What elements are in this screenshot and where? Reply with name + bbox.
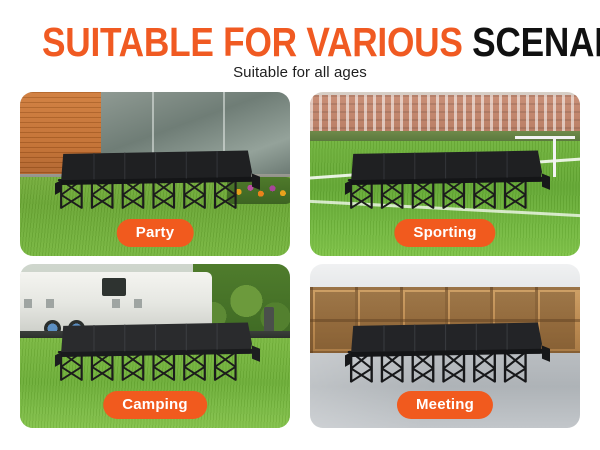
scenario-panel-party[interactable]: Party [20, 92, 290, 256]
scenario-panel-sporting[interactable]: Sporting [310, 92, 580, 256]
folding-bench-product [55, 144, 260, 226]
scenario-grid: Party [20, 92, 580, 428]
bench-illustration [55, 144, 260, 226]
bench-illustration [345, 144, 550, 226]
scenario-label-camping: Camping [103, 391, 207, 419]
folding-bench-product [345, 316, 550, 398]
bench-illustration [55, 316, 260, 398]
poster-header: SUITABLE FOR VARIOUS SCENARIOS Suitable … [0, 0, 600, 88]
page-title-rest [463, 19, 473, 65]
page-title-accent: SUITABLE FOR VARIOUS [42, 19, 463, 65]
goal-post [553, 136, 556, 177]
poster-canvas: SUITABLE FOR VARIOUS SCENARIOS Suitable … [0, 0, 600, 450]
scenario-label-meeting: Meeting [397, 391, 493, 419]
goal-crossbar [515, 136, 574, 139]
scenario-panel-camping[interactable]: Camping [20, 264, 290, 428]
scenario-label-sporting: Sporting [394, 219, 495, 247]
scenario-label-party: Party [117, 219, 194, 247]
bench-illustration [345, 316, 550, 398]
page-subtitle: Suitable for all ages [0, 63, 600, 83]
page-title: SUITABLE FOR VARIOUS SCENARIOS [42, 20, 558, 64]
scenario-panel-meeting[interactable]: Meeting [310, 264, 580, 428]
rv-door [102, 278, 126, 296]
folding-bench-product [55, 316, 260, 398]
folding-bench-product [345, 144, 550, 226]
rv-window [24, 299, 32, 307]
page-title-rest-text: SCENARIOS [472, 19, 600, 65]
